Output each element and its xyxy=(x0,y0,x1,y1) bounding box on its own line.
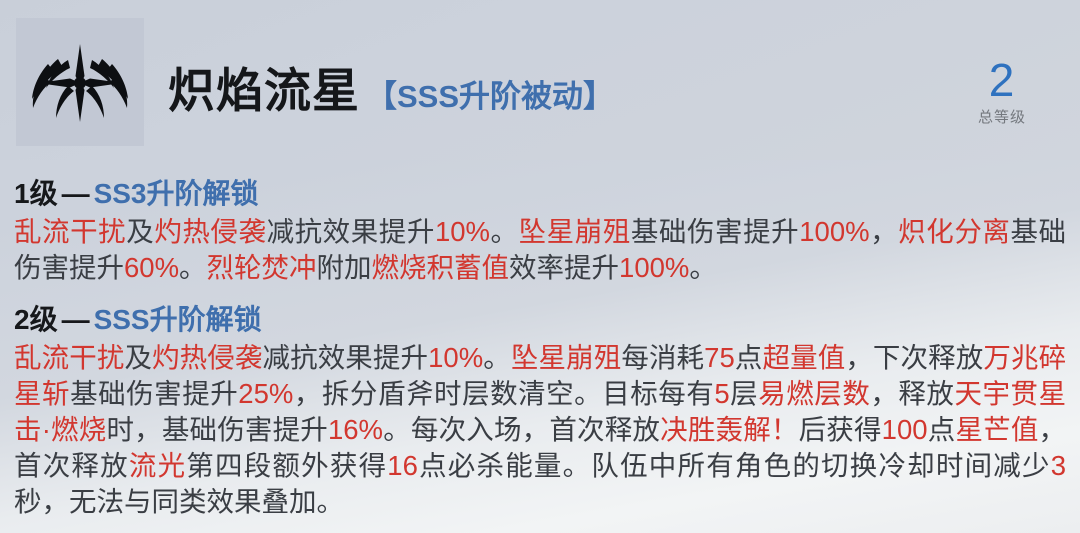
body-text: 后获得 xyxy=(799,414,882,445)
total-level-value: 2 xyxy=(942,58,1062,102)
highlighted-text: 16 xyxy=(387,450,418,481)
panel-header: 炽焰流星 【SSS升阶被动】 2 总等级 xyxy=(0,0,1080,160)
body-text: 附加 xyxy=(317,252,372,283)
highlighted-text: 炽化分离 xyxy=(898,216,1010,247)
title-tag: 【SSS升阶被动】 xyxy=(366,71,614,116)
section-1-heading: 1级—SS3升阶解锁 xyxy=(14,172,1066,212)
body-text: 基础伤害提升 xyxy=(70,378,238,409)
section-2-unlock: SSS升阶解锁 xyxy=(94,304,262,335)
section-1-level: 1级 xyxy=(14,178,58,209)
body-text: 点 xyxy=(928,414,956,445)
body-text: 。 xyxy=(689,252,717,283)
highlighted-text: 16% xyxy=(328,414,383,445)
body-text: 及 xyxy=(126,216,154,247)
highlighted-text: 3 xyxy=(1051,450,1066,481)
highlighted-text: 坠星崩殂 xyxy=(511,342,621,373)
total-level-box: 2 总等级 xyxy=(942,58,1062,127)
body-text: 基础伤害提升 xyxy=(631,216,799,247)
highlighted-text: 乱流干扰 xyxy=(14,216,126,247)
skill-section-2: 2级—SSS升阶解锁 乱流干扰及灼热侵袭减抗效果提升10%。坠星崩殂每消耗75点… xyxy=(14,298,1066,520)
body-text: 。 xyxy=(483,342,511,373)
body-text: 。 xyxy=(179,252,207,283)
body-text: ， xyxy=(870,216,899,247)
title-row: 炽焰流星 【SSS升阶被动】 xyxy=(168,52,614,121)
page-title: 炽焰流星 xyxy=(168,52,360,121)
highlighted-text: 10% xyxy=(435,216,490,247)
body-text: ，释放 xyxy=(870,378,954,409)
winged-star-emblem-icon xyxy=(16,18,144,146)
highlighted-text: 100% xyxy=(619,252,689,283)
highlighted-text: 燃烧积蓄值 xyxy=(372,252,510,283)
highlighted-text: 60% xyxy=(124,252,179,283)
body-text: 每消耗 xyxy=(621,342,704,373)
body-text: 减抗效果提升 xyxy=(267,216,435,247)
body-text: 第四段额外获得 xyxy=(186,450,387,481)
highlighted-text: 超量值 xyxy=(762,342,845,373)
section-1-dash: — xyxy=(58,178,94,209)
highlighted-text: 决胜轰解！ xyxy=(660,414,798,445)
body-text: ，下次释放 xyxy=(845,342,983,373)
body-text: 及 xyxy=(124,342,152,373)
highlighted-text: 灼热侵袭 xyxy=(152,342,262,373)
highlighted-text: 10% xyxy=(428,342,483,373)
highlighted-text: 75 xyxy=(704,342,735,373)
body-text: 时，基础伤害提升 xyxy=(106,414,328,445)
skill-detail-panel: 炽焰流星 【SSS升阶被动】 2 总等级 1级—SS3升阶解锁 乱流干扰及灼热侵… xyxy=(0,0,1080,533)
body-text: 。每次入场，首次释放 xyxy=(383,414,660,445)
body-text: 。 xyxy=(490,216,519,247)
body-text: 点 xyxy=(735,342,763,373)
highlighted-text: 5 xyxy=(714,378,729,409)
highlighted-text: 易燃层数 xyxy=(758,378,870,409)
body-text: 秒，无法与同类效果叠加。 xyxy=(14,486,344,517)
highlighted-text: 25% xyxy=(238,378,293,409)
highlighted-text: 烈轮焚冲 xyxy=(207,252,317,283)
highlighted-text: 坠星崩殂 xyxy=(519,216,631,247)
body-text: 减抗效果提升 xyxy=(262,342,428,373)
section-2-description: 乱流干扰及灼热侵袭减抗效果提升10%。坠星崩殂每消耗75点超量值，下次释放万兆碎… xyxy=(14,340,1066,520)
skill-sections: 1级—SS3升阶解锁 乱流干扰及灼热侵袭减抗效果提升10%。坠星崩殂基础伤害提升… xyxy=(0,160,1080,520)
section-2-level: 2级 xyxy=(14,304,58,335)
body-text: 层 xyxy=(730,378,759,409)
section-1-description: 乱流干扰及灼热侵袭减抗效果提升10%。坠星崩殂基础伤害提升100%，炽化分离基础… xyxy=(14,214,1066,286)
body-text: 效率提升 xyxy=(509,252,619,283)
section-2-dash: — xyxy=(58,304,94,335)
skill-section-1: 1级—SS3升阶解锁 乱流干扰及灼热侵袭减抗效果提升10%。坠星崩殂基础伤害提升… xyxy=(14,172,1066,286)
highlighted-text: 100 xyxy=(882,414,928,445)
highlighted-text: 100% xyxy=(799,216,869,247)
section-2-heading: 2级—SSS升阶解锁 xyxy=(14,298,1066,338)
body-text: 点必杀能量。队伍中所有角色的切换冷却时间减少 xyxy=(418,450,1051,481)
highlighted-text: 乱流干扰 xyxy=(14,342,124,373)
highlighted-text: 星芒值 xyxy=(955,414,1038,445)
body-text: ，拆分盾斧时层数清空。目标每有 xyxy=(293,378,714,409)
section-1-unlock: SS3升阶解锁 xyxy=(94,178,259,209)
total-level-label: 总等级 xyxy=(942,106,1062,127)
highlighted-text: 灼热侵袭 xyxy=(154,216,266,247)
highlighted-text: 流光 xyxy=(129,450,186,481)
